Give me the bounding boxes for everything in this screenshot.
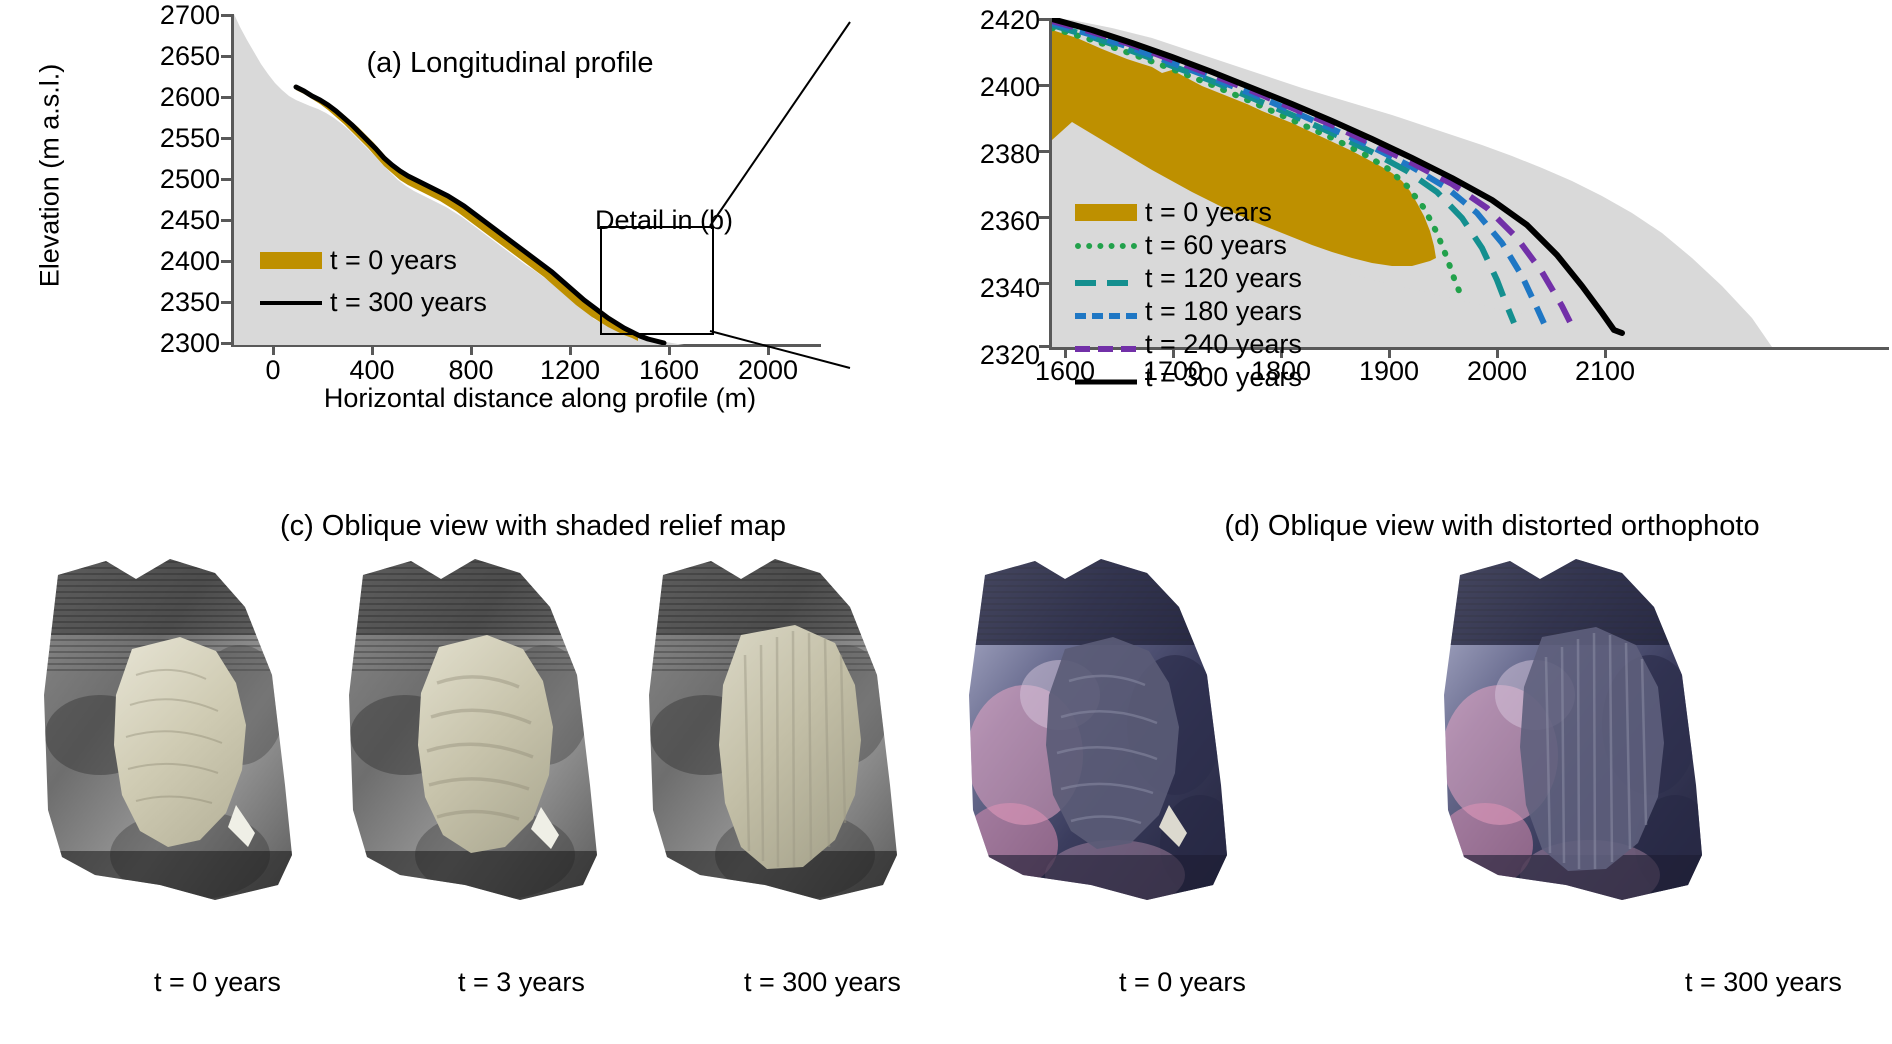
panel-a-xtick-400: 400	[342, 355, 402, 386]
panel-c-scene-2	[345, 555, 645, 1025]
panel-a-ytickmark	[221, 342, 232, 345]
panel-a-legend-item-t0: t = 0 years	[260, 244, 487, 277]
panel-a-xtickmark	[470, 344, 473, 355]
panel-c-scene-2-label: t = 3 years	[458, 967, 585, 998]
legend-swatch-fill-gold	[1075, 204, 1137, 221]
panel-c-title: (c) Oblique view with shaded relief map	[253, 510, 813, 543]
panel-a-ytick-2650: 2650	[100, 41, 220, 72]
panel-a-xtickmark	[272, 344, 275, 355]
panel-a-xtick-1600: 1600	[639, 355, 699, 386]
legend-swatch-dashed-purple	[1075, 329, 1137, 360]
panel-a-ytickmark	[221, 137, 232, 140]
panel-a-xtick-800: 800	[441, 355, 501, 386]
panel-b-xtick-2100: 2100	[1560, 356, 1650, 387]
panel-b-xtick-2000: 2000	[1452, 356, 1542, 387]
panel-b-ytickmark	[1039, 216, 1050, 219]
panel-b-legend-label-t0: t = 0 years	[1145, 197, 1272, 228]
panel-c-scene-3	[645, 555, 945, 1025]
panel-a-legend: t = 0 years t = 300 years	[260, 244, 487, 319]
panel-b-legend-item-t60: t = 60 years	[1075, 229, 1302, 262]
panel-b-legend-item-t300: t = 300 years	[1075, 361, 1302, 394]
panel-a-xtickmark	[569, 344, 572, 355]
panel-b-ytickmark	[1039, 282, 1050, 285]
panel-b-xtick-1900: 1900	[1344, 356, 1434, 387]
panel-a-ytickmark	[221, 219, 232, 222]
panel-c-scene-1-label: t = 0 years	[154, 967, 281, 998]
panel-b-xtickmark	[1604, 347, 1607, 358]
panel-b-legend: t = 0 years t = 60 years t = 120 years t…	[1075, 196, 1302, 394]
legend-swatch-dashed-blue	[1075, 296, 1137, 327]
panel-a-ytickmark	[221, 55, 232, 58]
panel-a-xtickmark	[371, 344, 374, 355]
panel-a-xtick-0: 0	[243, 355, 303, 386]
legend-swatch-fill-gold	[260, 252, 322, 269]
legend-swatch-solid-black	[1075, 362, 1137, 393]
panel-a-ytick-2500: 2500	[100, 164, 220, 195]
panel-c-scene-1	[40, 555, 340, 1025]
panel-b-ytick-2380: 2380	[910, 139, 1040, 170]
panel-a-ytickmark	[221, 260, 232, 263]
panel-a-y-axis-label: Elevation (m a.s.l.)	[35, 46, 66, 306]
panel-a-ytick-2350: 2350	[100, 287, 220, 318]
panel-a-ytickmark	[221, 14, 232, 17]
panel-d-scene-1-label: t = 0 years	[1119, 967, 1246, 998]
legend-swatch-dotted-green	[1075, 243, 1137, 249]
panel-a-xtickmark	[668, 344, 671, 355]
panel-a-detail-box	[600, 226, 714, 335]
panel-d-scene-2-label: t = 300 years	[1685, 967, 1842, 998]
panel-b-ytick-2420: 2420	[910, 5, 1040, 36]
panel-d-scene-1	[965, 555, 1285, 1025]
panel-a-legend-item-t300: t = 300 years	[260, 286, 487, 319]
panel-b-ytickmark	[1039, 18, 1050, 21]
panel-a-ytick-2300: 2300	[100, 328, 220, 359]
legend-swatch-line-black	[260, 301, 322, 305]
panel-b-xtickmark	[1064, 347, 1067, 358]
panel-a-ytick-2450: 2450	[100, 205, 220, 236]
panel-a-ytick-2400: 2400	[100, 246, 220, 277]
panel-b-legend-label-t240: t = 240 years	[1145, 329, 1302, 360]
panel-a-ytick-2600: 2600	[100, 82, 220, 113]
panel-b-ytickmark	[1039, 345, 1050, 348]
panel-b-legend-label-t180: t = 180 years	[1145, 296, 1302, 327]
panel-b-legend-item-t0: t = 0 years	[1075, 196, 1302, 229]
panel-b-ytickmark	[1039, 150, 1050, 153]
panel-a-ytick-2700: 2700	[100, 0, 220, 31]
panel-b-ytick-2360: 2360	[910, 206, 1040, 237]
panel-a-xtick-1200: 1200	[540, 355, 600, 386]
panel-b-legend-label-t120: t = 120 years	[1145, 263, 1302, 294]
panel-b-ytick-2400: 2400	[910, 72, 1040, 103]
panel-b-xtickmark	[1388, 347, 1391, 358]
panel-b-ytick-2340: 2340	[910, 273, 1040, 304]
panel-c-scene-3-label: t = 300 years	[744, 967, 901, 998]
panel-b-xtickmark	[1496, 347, 1499, 358]
panel-b-ytickmark	[1039, 84, 1050, 87]
legend-swatch-dashed-teal	[1075, 263, 1137, 294]
panel-b-legend-item-t120: t = 120 years	[1075, 262, 1302, 295]
panel-a-ytick-2550: 2550	[100, 123, 220, 154]
panel-a-ytickmark	[221, 301, 232, 304]
panel-d-title: (d) Oblique view with distorted orthopho…	[1182, 510, 1802, 543]
panel-a-legend-label-t0: t = 0 years	[330, 245, 457, 276]
panel-d-scene-2	[1440, 555, 1760, 1025]
panel-a-legend-label-t300: t = 300 years	[330, 287, 487, 318]
panel-b-legend-label-t300: t = 300 years	[1145, 362, 1302, 393]
panel-a-ytickmark	[221, 178, 232, 181]
panel-b-legend-item-t240: t = 240 years	[1075, 328, 1302, 361]
panel-a-ytickmark	[221, 96, 232, 99]
panel-b-terminus-detail: (b) Longitudinal profile rock glacier te…	[920, 0, 1892, 430]
panel-b-legend-label-t60: t = 60 years	[1145, 230, 1287, 261]
panel-b-legend-item-t180: t = 180 years	[1075, 295, 1302, 328]
